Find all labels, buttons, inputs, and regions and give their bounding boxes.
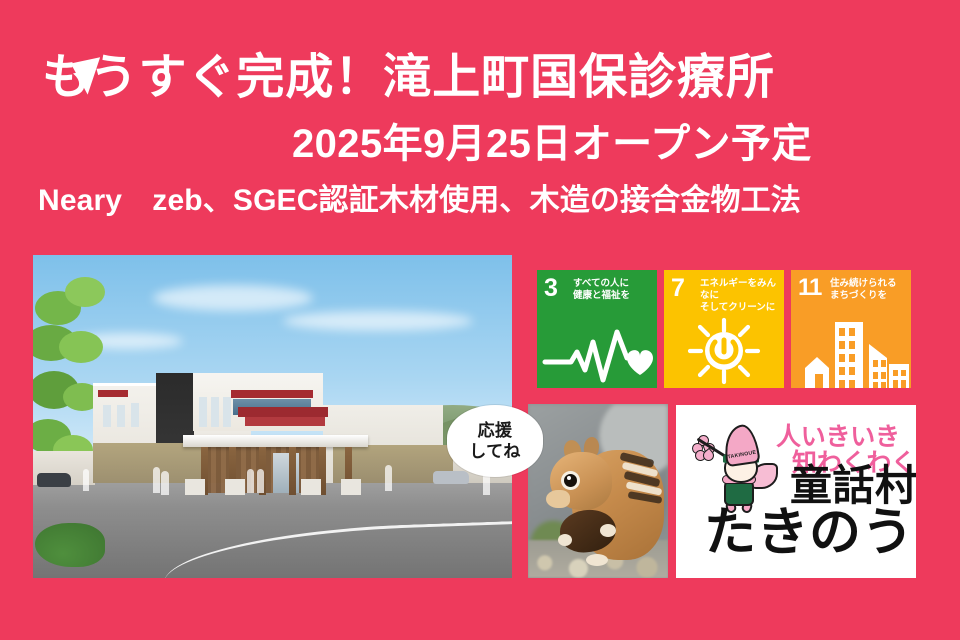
city-buildings-icon <box>791 314 911 388</box>
person-silhouette <box>257 469 264 493</box>
chipmunk-paw <box>586 554 608 566</box>
headline-line-2: 2025年9月25日オープン予定 <box>292 122 812 166</box>
clinic-window <box>199 397 207 427</box>
logo-name-top: 童話村 <box>790 465 916 507</box>
sun-power-icon <box>664 314 784 388</box>
cloud-shape <box>283 311 473 331</box>
sdg-goal-11-tile: 11 住み続けられる まちづくりを <box>791 270 911 388</box>
poster-canvas: もうすぐ完成！滝上町国保診療所 2025年9月25日オープン予定 Neary z… <box>0 0 960 640</box>
chipmunk-paw <box>600 524 616 537</box>
person-silhouette <box>385 465 392 491</box>
sdg-goal-7-number: 7 <box>671 276 685 301</box>
chipmunk-eye-glint <box>567 476 571 480</box>
sdg-goal-7-label-line1: エネルギーをみんなに <box>700 278 781 302</box>
sdg-goal-7-tile: 7 エネルギーをみんなに そしてクリーンに <box>664 270 784 388</box>
headline-line-3: Neary zeb、SGEC認証木材使用、木造の接合金物工法 <box>38 184 801 217</box>
sdg-goal-3-label-line2: 健康と福祉を <box>573 290 654 302</box>
speech-bubble-text: 応援 してね <box>447 405 543 477</box>
parked-car <box>37 473 71 487</box>
entrance-canopy <box>183 435 368 447</box>
sdg-goal-3-label: すべての人に 健康と福祉を <box>573 278 654 302</box>
sdg-goal-7-label: エネルギーをみんなに そしてクリーンに <box>700 278 781 314</box>
speech-bubble: 応援 してね <box>447 405 543 477</box>
clinic-window <box>131 403 139 427</box>
person-silhouette <box>153 467 160 493</box>
shrub <box>35 523 105 567</box>
person-silhouette <box>247 469 254 493</box>
sdg-goal-11-label: 住み続けられる まちづくりを <box>830 278 908 302</box>
clinic-window <box>117 405 125 427</box>
wooden-column <box>289 447 296 495</box>
column-base <box>341 479 361 495</box>
roof-eave-red <box>98 390 128 397</box>
clinic-render-image <box>33 255 512 578</box>
speech-bubble-line2: してね <box>469 441 521 462</box>
sdg-goal-11-label-line1: 住み続けられる <box>830 278 908 290</box>
sdg-goal-11-number: 11 <box>798 276 821 300</box>
logo-inner-panel: TAKINOUE 人いきいき 知わくわく 童話村 たきのうえ <box>680 409 912 574</box>
sdg-goal-7-label-line2: そしてクリーンに <box>700 302 781 314</box>
takinoue-logo: TAKINOUE 人いきいき 知わくわく 童話村 たきのうえ <box>676 405 916 578</box>
clinic-window <box>103 405 111 427</box>
clinic-window <box>223 397 231 427</box>
chipmunk-photo <box>528 404 668 578</box>
sdg-goal-3-label-line1: すべての人に <box>573 278 654 290</box>
fairy-mascot-icon: TAKINOUE <box>690 423 782 515</box>
logo-name-bottom: たきのうえ <box>704 507 916 559</box>
speech-bubble-line1: 応援 <box>478 420 513 441</box>
cloud-shape <box>153 285 313 311</box>
roof-eave-red <box>231 390 313 398</box>
clinic-window <box>211 397 219 427</box>
chipmunk-paw <box>558 534 572 546</box>
column-base <box>301 479 321 495</box>
column-base <box>225 479 245 495</box>
chipmunk-snout <box>546 490 570 508</box>
entrance-roof-red <box>238 407 328 417</box>
sdg-goal-3-number: 3 <box>544 276 558 301</box>
person-silhouette <box>83 469 89 491</box>
sdg-goal-11-label-line2: まちづくりを <box>830 290 908 302</box>
column-base <box>185 479 205 495</box>
heartbeat-icon <box>537 314 657 388</box>
entrance-roof-red <box>245 417 325 426</box>
person-silhouette <box>161 471 169 495</box>
headline-line-1: もうすぐ完成！滝上町国保診療所 <box>42 52 775 105</box>
sdg-goal-3-tile: 3 すべての人に 健康と福祉を <box>537 270 657 388</box>
